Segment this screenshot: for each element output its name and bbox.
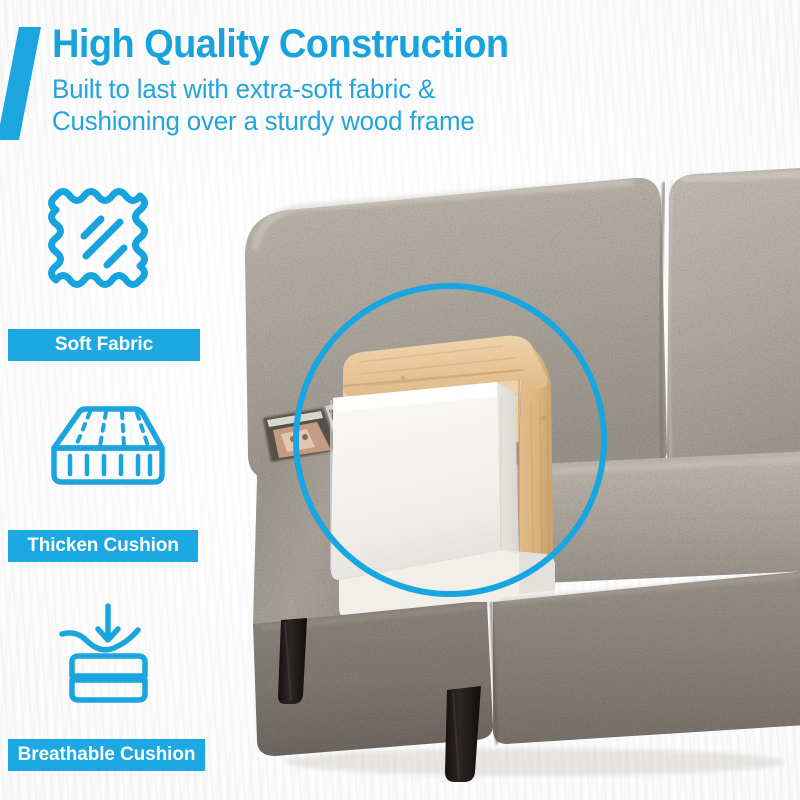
header: High Quality Construction Built to last … — [0, 0, 640, 160]
product-feature-graphic: High Quality Construction Built to last … — [0, 0, 800, 800]
back-cushion-right — [667, 166, 800, 472]
armrest-cutaway — [331, 336, 555, 620]
feature-label-soft-fabric: Soft Fabric — [8, 329, 200, 361]
feature-label-breathable-cushion: Breathable Cushion — [8, 739, 205, 771]
page-title: High Quality Construction — [52, 22, 509, 67]
breathable-cushion-icon — [42, 600, 174, 718]
sofa-leg-rear — [278, 618, 307, 704]
accent-slash-bar — [0, 27, 41, 140]
sofa-photograph — [235, 150, 800, 800]
thick-mattress-cushion-icon — [38, 400, 178, 510]
subtitle-line-1: Built to last with extra-soft fabric & — [52, 74, 435, 105]
foam-panel-front — [331, 382, 501, 580]
feature-label-thicken-cushion: Thicken Cushion — [8, 530, 198, 562]
floor-shadow — [285, 748, 785, 776]
fabric-swatch-icon — [44, 178, 166, 300]
subtitle-line-2: Cushioning over a sturdy wood frame — [52, 106, 475, 137]
